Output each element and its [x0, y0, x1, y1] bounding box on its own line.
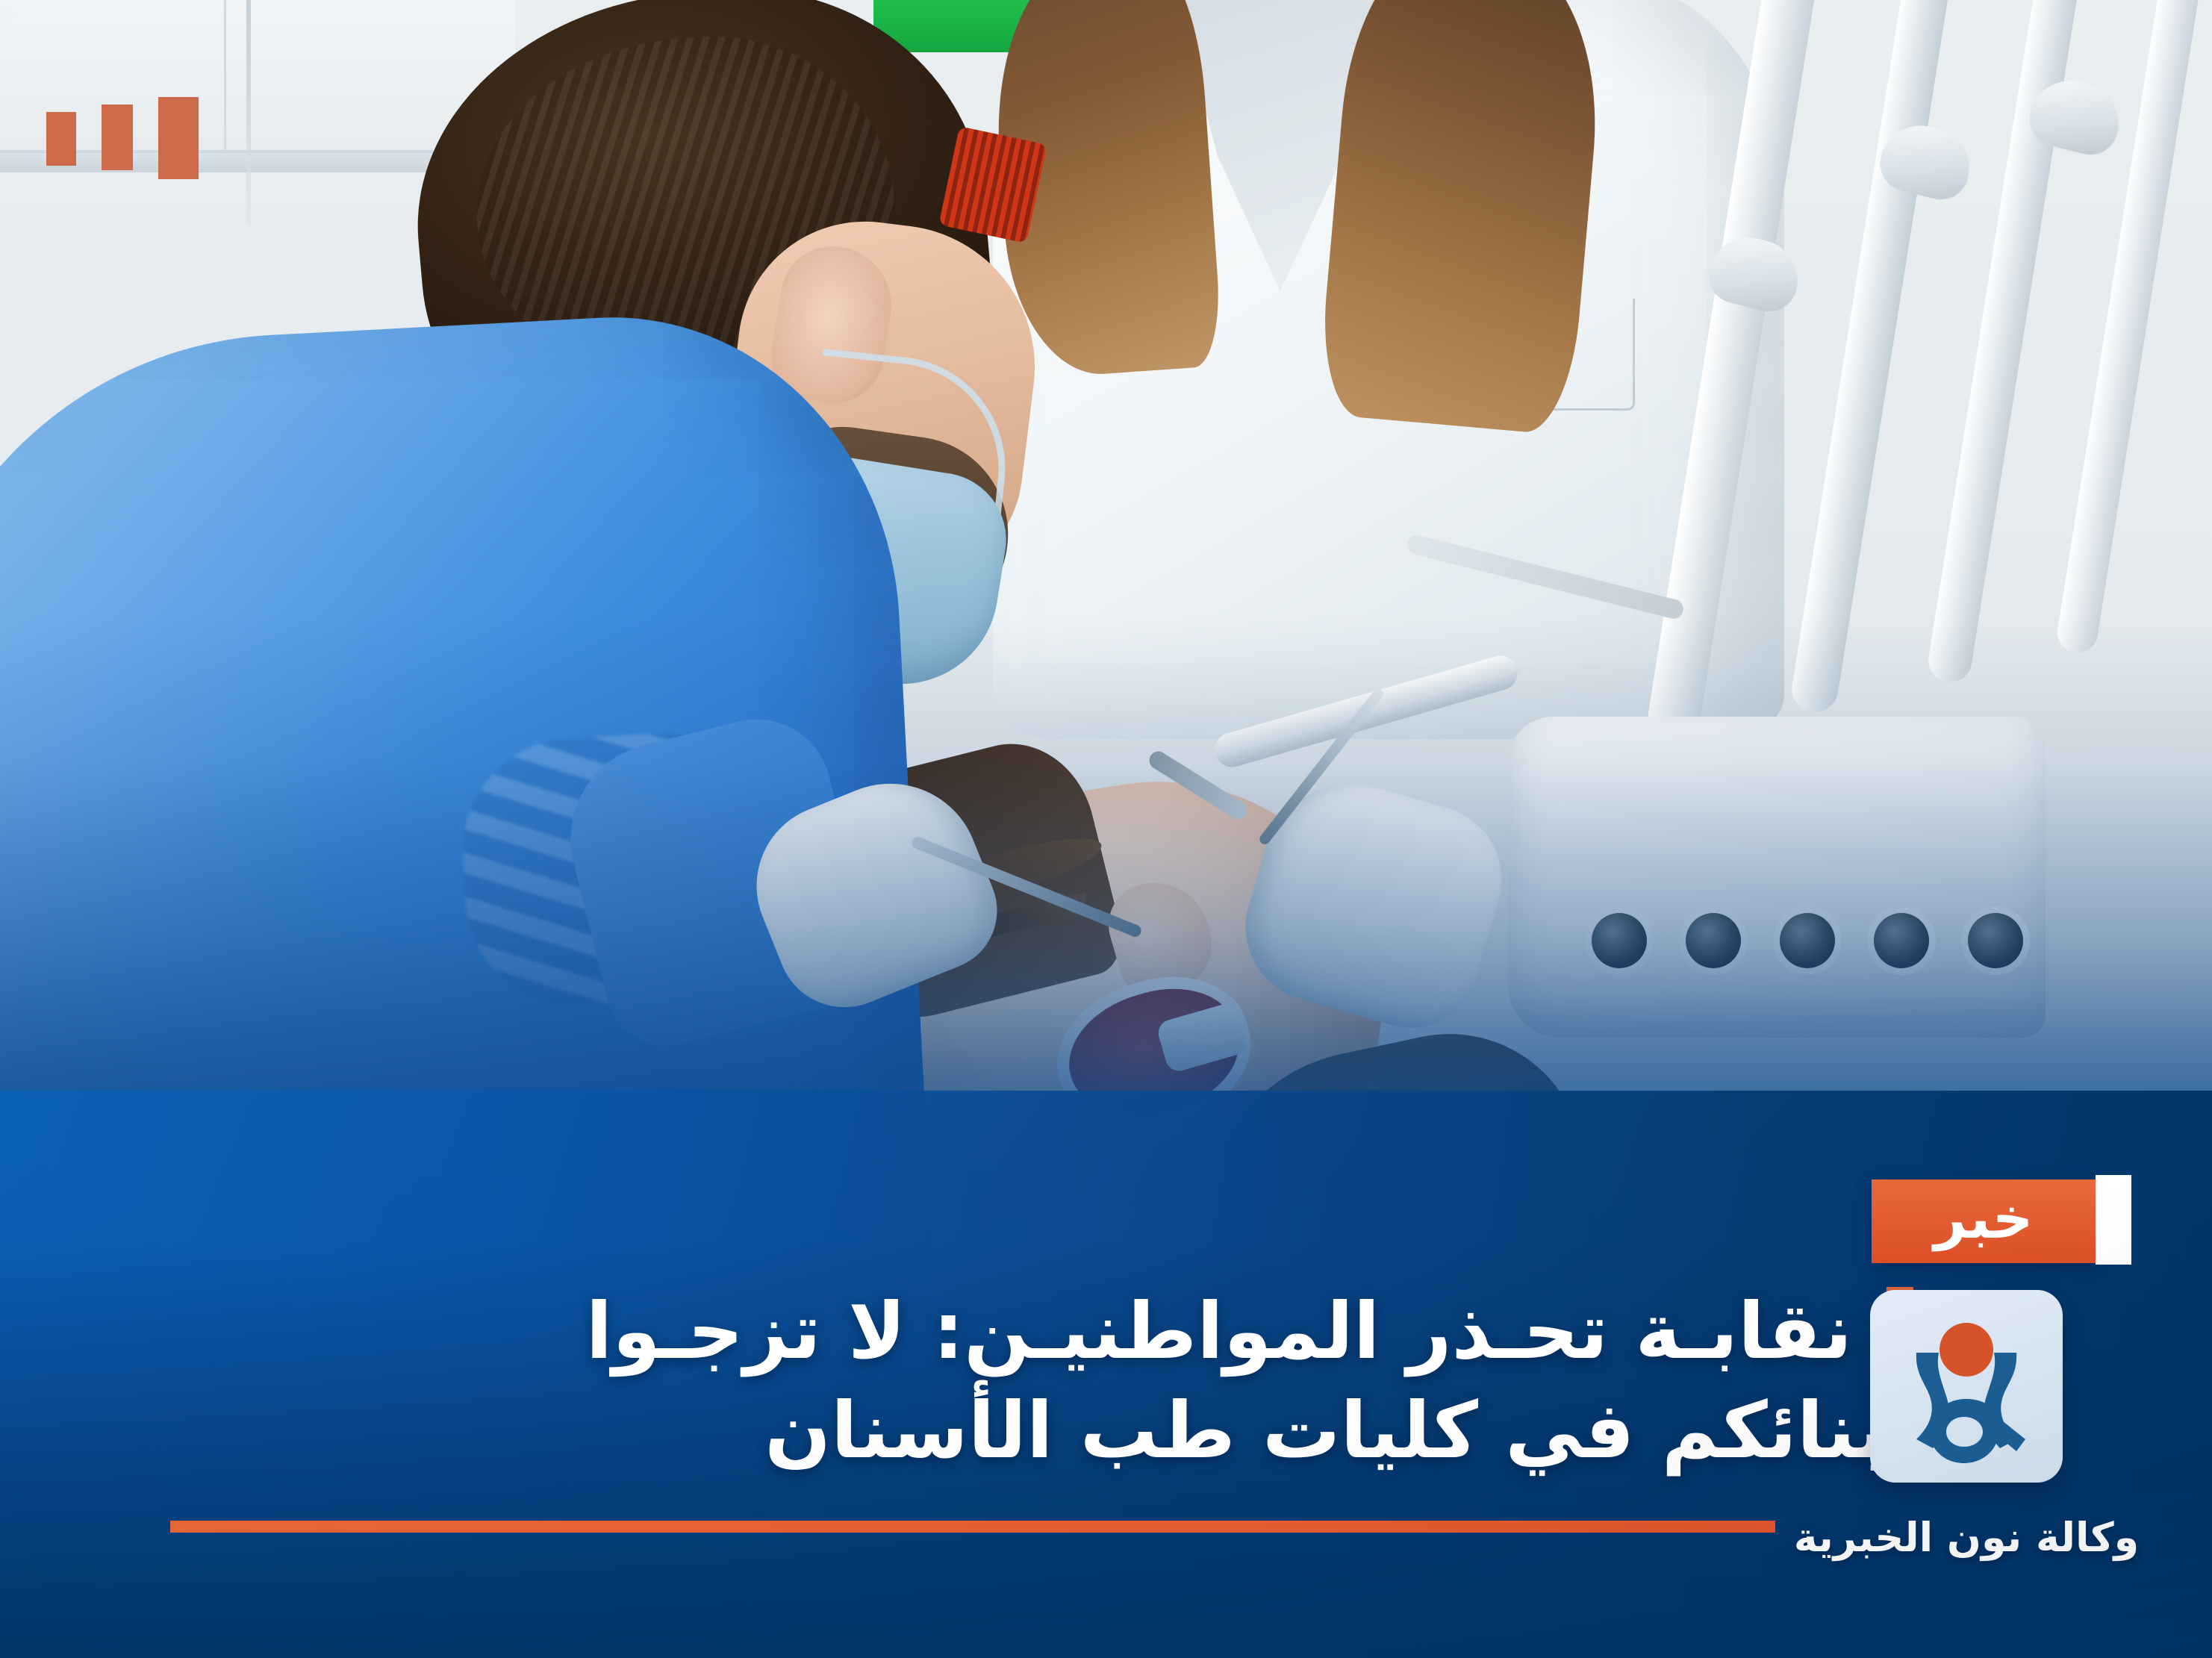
three-bars-icon — [46, 97, 199, 179]
status-badge-label: خبر — [1934, 1190, 2033, 1247]
headline-block: نقابـة تحـذر المواطنيـن: لا تزجـوا أبنائ… — [112, 1282, 1913, 1480]
corner-bar-2 — [102, 105, 133, 170]
noon-agency-logo-icon[interactable] — [1870, 1290, 2063, 1483]
corner-bar-3 — [46, 112, 76, 166]
corner-bar-1 — [158, 97, 199, 179]
brand-name: وكالة نون الخبرية — [1794, 1514, 2139, 1561]
headline-line-1: نقابـة تحـذر المواطنيـن: لا تزجـوا — [586, 1282, 1852, 1381]
horizontal-rule-icon — [170, 1521, 1775, 1533]
status-badge: خبر — [1872, 1179, 2096, 1263]
headline-line-2: أبنائكم في كليات طب الأسنان — [112, 1381, 1913, 1480]
news-card: نقابـة تحـذر المواطنيـن: لا تزجـوا أبنائ… — [0, 0, 2212, 1658]
wall-seam — [246, 0, 251, 224]
brand-block: خبر وكالة نون الخبرية — [1791, 1179, 2142, 1561]
headline-row-1: نقابـة تحـذر المواطنيـن: لا تزجـوا — [112, 1282, 1913, 1381]
assistant-hair-right — [1316, 0, 1610, 436]
